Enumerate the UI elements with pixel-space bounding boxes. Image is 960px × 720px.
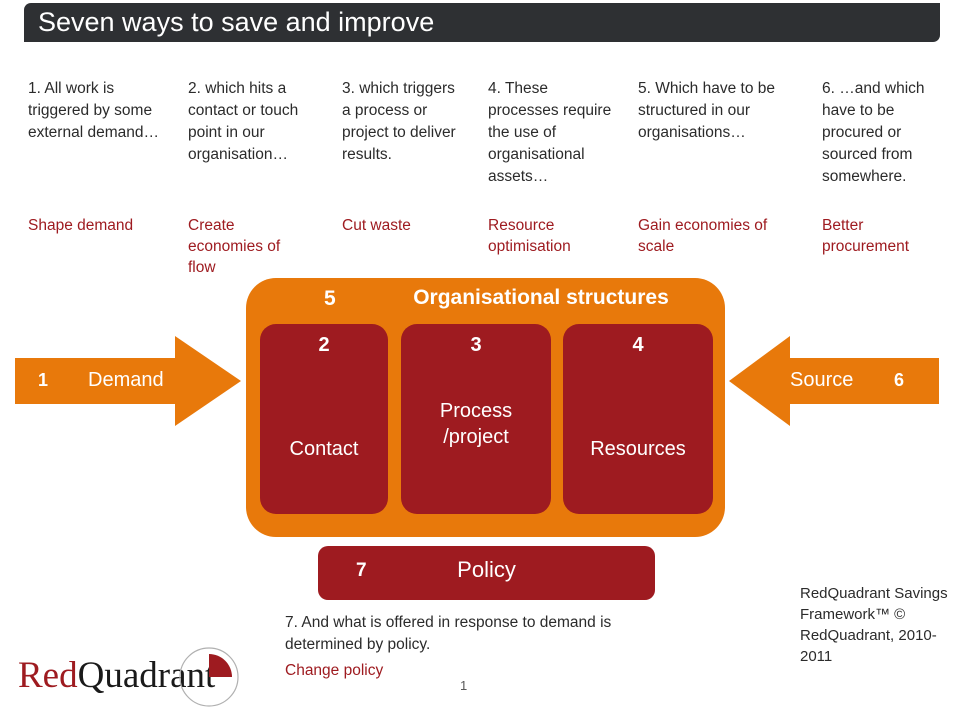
contact-box-number: 2: [260, 334, 388, 357]
column-5-description: 5. Which have to be structured in our or…: [638, 78, 798, 144]
resources-box-label: Resources: [563, 436, 713, 462]
process-project-box-label: Process /project: [401, 398, 551, 450]
contact-box-label: Contact: [260, 436, 388, 462]
source-arrow-number: 6: [894, 370, 904, 391]
demand-arrow-label: Demand: [88, 369, 164, 392]
column-1-description: 1. All work is triggered by some externa…: [28, 78, 168, 144]
title-bar: Seven ways to save and improve: [24, 3, 940, 42]
column-2-saving: Create economies of flow: [188, 215, 298, 278]
column-4-description: 4. These processes require the use of or…: [488, 78, 621, 188]
column-1-saving: Shape demand: [28, 215, 178, 236]
logo-word-red: Red: [18, 655, 78, 696]
column-3-description: 3. which triggers a process or project t…: [342, 78, 462, 166]
policy-box-label: Policy: [318, 557, 655, 583]
policy-description: 7. And what is offered in response to de…: [285, 612, 665, 656]
page-title: Seven ways to save and improve: [38, 7, 434, 38]
column-3-saving: Cut waste: [342, 215, 472, 236]
column-5-saving: Gain economies of scale: [638, 215, 798, 257]
page-number: 1: [460, 678, 467, 693]
contact-box[interactable]: 2 Contact: [260, 324, 388, 514]
process-project-box[interactable]: 3 Process /project: [401, 324, 551, 514]
column-2-description: 2. which hits a contact or touch point i…: [188, 78, 306, 166]
organisational-structures-container[interactable]: 5 Organisational structures 2 Contact 3 …: [246, 278, 725, 537]
demand-arrow-number: 1: [38, 370, 48, 391]
credit-note: RedQuadrant Savings Framework™ © RedQuad…: [800, 583, 960, 667]
resources-box[interactable]: 4 Resources: [563, 324, 713, 514]
organisational-structures-label: Organisational structures: [376, 286, 706, 310]
resources-box-number: 4: [563, 334, 713, 357]
logo-quadrant-icon: [178, 646, 240, 708]
policy-saving: Change policy: [285, 662, 383, 680]
organisational-structures-number: 5: [324, 287, 336, 311]
redquadrant-logo: RedQuadrant: [18, 646, 238, 708]
source-arrow-label: Source: [790, 369, 853, 392]
column-6-description: 6. …and which have to be procured or sou…: [822, 78, 940, 188]
column-4-saving: Resource optimisation: [488, 215, 608, 257]
column-6-saving: Better procurement: [822, 215, 942, 257]
process-project-box-number: 3: [401, 334, 551, 357]
policy-box[interactable]: 7 Policy: [318, 546, 655, 600]
slide-canvas: Seven ways to save and improve 1. All wo…: [0, 0, 960, 720]
